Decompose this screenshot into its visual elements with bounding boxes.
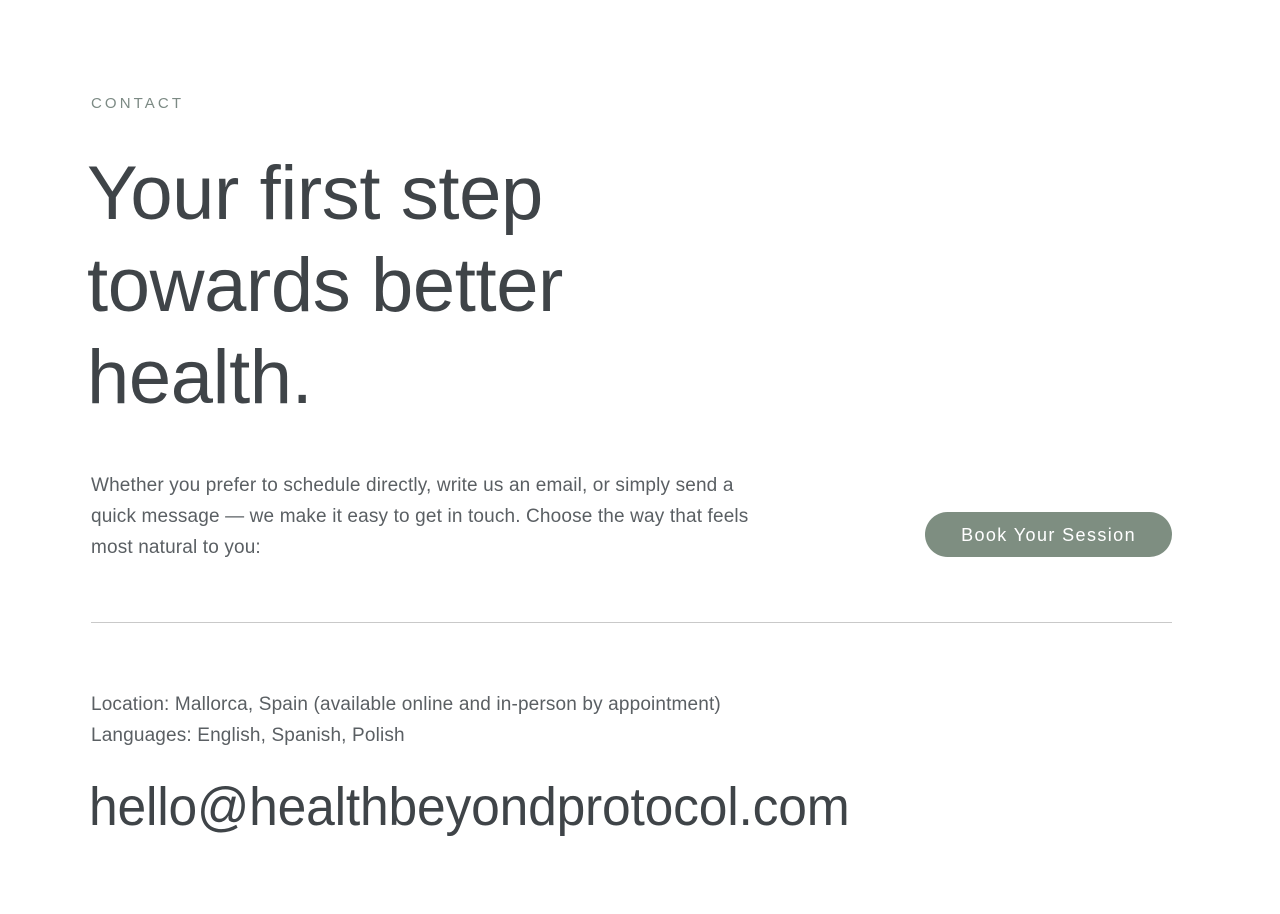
email-link[interactable]: hello@healthbeyondprotocol.com (89, 775, 849, 839)
section-divider (91, 622, 1172, 623)
book-session-button[interactable]: Book Your Session (925, 512, 1172, 557)
cta-row: Book Your Session (91, 512, 1172, 557)
section-eyebrow: CONTACT (91, 94, 184, 114)
page-title: Your first step towards better health. (87, 148, 727, 424)
contact-page: CONTACT Your first step towards better h… (0, 0, 1280, 914)
content-container: CONTACT Your first step towards better h… (91, 0, 1172, 914)
languages-line: Languages: English, Spanish, Polish (91, 720, 1091, 751)
location-line: Location: Mallorca, Spain (available onl… (91, 689, 1091, 720)
details-block: Location: Mallorca, Spain (available onl… (91, 689, 1091, 751)
